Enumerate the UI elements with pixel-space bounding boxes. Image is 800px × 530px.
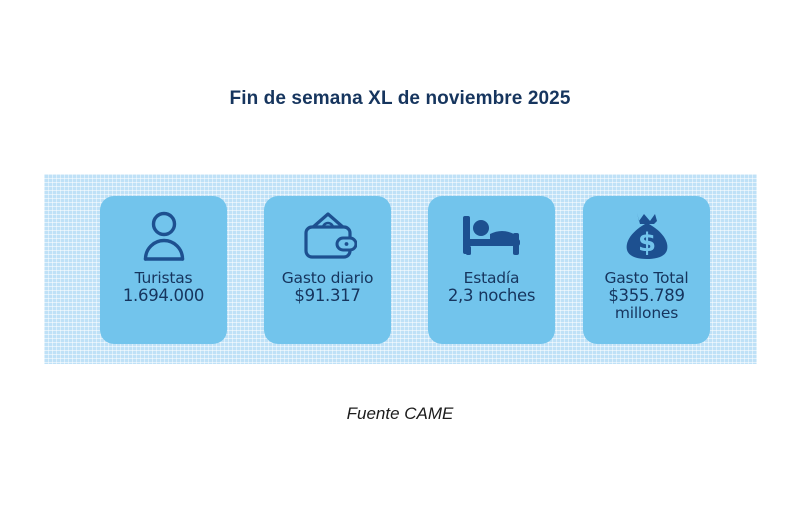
stat-value: 1.694.000 xyxy=(123,287,204,305)
stat-value: $91.317 xyxy=(282,287,373,305)
stat-card-estadia: Estadía 2,3 noches xyxy=(428,196,555,344)
stat-card-list: Turistas 1.694.000 Gasto xyxy=(44,174,757,364)
bed-icon xyxy=(459,196,525,270)
stat-card-text: Estadía 2,3 noches xyxy=(444,270,539,305)
source-note: Fuente CAME xyxy=(0,404,800,424)
stat-card-gasto-total: $ Gasto Total $355.789 millones xyxy=(583,196,710,344)
svg-text:$: $ xyxy=(637,228,655,258)
stat-card-text: Gasto diario $91.317 xyxy=(278,270,377,305)
stat-card-gasto-diario: Gasto diario $91.317 xyxy=(264,196,391,344)
stat-value: $355.789 xyxy=(604,287,688,305)
stat-label: Gasto diario xyxy=(282,270,373,287)
person-icon xyxy=(140,196,188,270)
stat-card-turistas: Turistas 1.694.000 xyxy=(100,196,227,344)
stat-label: Turistas xyxy=(123,270,204,287)
stat-value: 2,3 noches xyxy=(448,287,535,305)
page-title: Fin de semana XL de noviembre 2025 xyxy=(0,88,800,110)
wallet-icon xyxy=(299,196,357,270)
stat-label: Gasto Total xyxy=(604,270,688,287)
stats-banner: Turistas 1.694.000 Gasto xyxy=(44,174,757,364)
stat-label: Estadía xyxy=(448,270,535,287)
stat-card-text: Gasto Total $355.789 millones xyxy=(600,270,692,321)
stat-unit: millones xyxy=(604,305,688,322)
money-bag-icon: $ xyxy=(621,196,673,270)
stat-card-text: Turistas 1.694.000 xyxy=(119,270,208,305)
